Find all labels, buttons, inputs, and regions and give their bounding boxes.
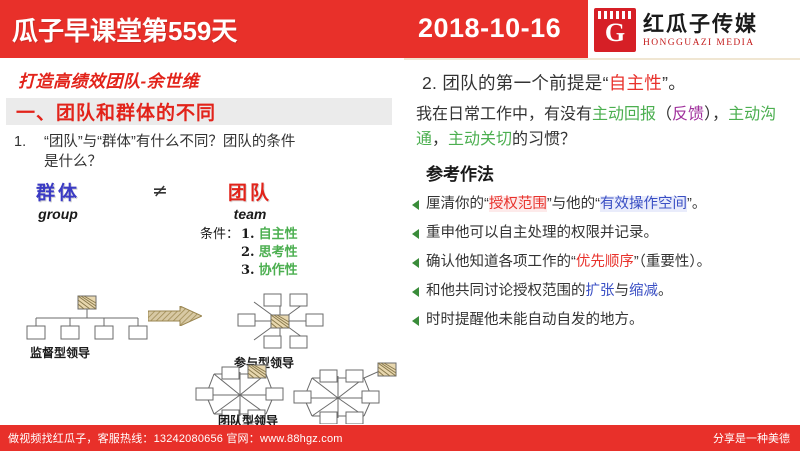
bullet-text: 确认他知道各项工作的“优先顺序”（重要性）。: [426, 252, 800, 272]
bullet-triangle-icon: [412, 287, 426, 297]
diagram-caption-supervisory: 监督型领导: [30, 344, 90, 361]
list-item: 重申他可以自主处理的权限并记录。: [412, 223, 800, 243]
right-heading-number: 2.: [422, 73, 437, 93]
bullet-part: 与: [615, 283, 630, 299]
bullet-part-authority-scope: 授权范围: [489, 196, 547, 212]
list-item: 时时提醒他未能自动自发的地方。: [412, 310, 800, 330]
bullet-part: ”与他的“: [547, 196, 600, 212]
bullet-triangle-icon: [412, 229, 426, 239]
footer-slogan: 分享是一种美德: [713, 430, 790, 446]
bullet-part: ”（重要性）。: [634, 254, 711, 270]
list-item: 1.自主性: [241, 226, 298, 244]
bullet-triangle-icon: [412, 258, 426, 268]
group-label: 群体 group: [36, 178, 80, 222]
list-item: 和他共同讨论授权范围的扩张与缩减。: [412, 281, 800, 301]
slide-footer: 做视频找红瓜子，客服热线：13242080656 官网：www.88hgz.co…: [0, 425, 800, 451]
slide-root: 瓜子早课堂第559天 2018-10-16 G 红瓜子传媒 HONGGUAZI …: [0, 0, 800, 451]
bullet-text: 时时提醒他未能自动自发的地方。: [426, 310, 800, 330]
course-subtitle: 打造高绩效团队-余世维: [18, 67, 404, 92]
team-conditions: 条件： 1.自主性 2.思考性 3.协作性: [200, 226, 298, 280]
para-seg-feedback: 反馈: [672, 106, 704, 123]
section-heading-text: 一、团队和群体的不同: [16, 98, 216, 125]
para-seg-9: 的习惯？: [512, 131, 576, 148]
section-heading-bar: 一、团队和群体的不同: [6, 98, 392, 125]
logo-mark-icon: G: [594, 8, 636, 52]
bullet-part: 重申他可以自主处理的权限并记录。: [426, 225, 658, 241]
transition-arrow-icon: [148, 306, 202, 326]
bullet-part: 厘清你的“: [426, 196, 489, 212]
logo-letter: G: [594, 18, 636, 48]
para-seg-1: 我在日常工作中，有没有: [416, 106, 592, 123]
team-label-en: team: [228, 206, 272, 222]
para-seg-5: ），: [704, 106, 728, 123]
condition-number: 1.: [241, 227, 255, 242]
bullet-part: 确认他知道各项工作的“: [426, 254, 576, 270]
logo-name-cn: 红瓜子传媒: [643, 12, 758, 36]
group-label-en: group: [36, 206, 80, 222]
leadership-diagrams: 监督型领导: [0, 286, 404, 426]
list-item: 2.思考性: [241, 244, 298, 262]
condition-number: 3.: [241, 263, 255, 278]
bullet-part-priority-order: 优先顺序: [576, 254, 634, 270]
header-date: 2018-10-16: [418, 13, 561, 44]
bullet-part: 和他共同讨论授权范围的: [426, 283, 586, 299]
para-seg-proactive-report: 主动回报: [592, 106, 656, 123]
question-block: 1. “团队”与“群体”有什么不同？团队的条件 是什么？: [14, 132, 392, 172]
team-label: 团队 team: [228, 178, 272, 222]
participative-leadership-diagram-icon: [232, 290, 328, 352]
para-seg-7: ，: [432, 131, 448, 148]
right-heading-before: 团队的第一个前提是“: [442, 73, 608, 93]
footer-contact: 做视频找红瓜子，客服热线：13242080656 官网：www.88hgz.co…: [8, 430, 343, 446]
bullet-part-expand: 扩张: [586, 283, 615, 299]
question-text: “团队”与“群体”有什么不同？团队的条件 是什么？: [44, 132, 392, 172]
condition-number: 2.: [241, 245, 255, 260]
right-paragraph: 我在日常工作中，有没有主动回报（反馈），主动沟通，主动关切的习惯？: [416, 102, 792, 152]
practice-bullet-list: 厘清你的“授权范围”与他的“有效操作空间”。 重申他可以自主处理的权限并记录。 …: [412, 194, 800, 330]
right-heading-emphasis: 自主性: [609, 73, 662, 93]
right-panel: 2. 团队的第一个前提是“自主性”。 我在日常工作中，有没有主动回报（反馈），主…: [404, 58, 800, 425]
bullet-text: 厘清你的“授权范围”与他的“有效操作空间”。: [426, 194, 800, 214]
bullet-part-effective-space: 有效操作空间: [600, 196, 687, 212]
condition-value: 思考性: [259, 245, 298, 260]
bullet-part: 时时提醒他未能自动自发的地方。: [426, 312, 644, 328]
header-title: 瓜子早课堂第559天: [12, 11, 237, 48]
conditions-label: 条件：: [200, 226, 239, 280]
condition-value: 协作性: [259, 263, 298, 278]
group-vs-team-row: 群体 group ≠ 团队 team 条件： 1.自主性 2.思考性: [0, 178, 404, 230]
condition-value: 自主性: [259, 227, 298, 242]
list-item: 厘清你的“授权范围”与他的“有效操作空间”。: [412, 194, 800, 214]
bullet-part: ”。: [687, 196, 706, 212]
right-heading-after: ”。: [662, 73, 686, 93]
not-equal-icon: ≠: [152, 180, 168, 202]
bullet-triangle-icon: [412, 316, 426, 326]
bullet-text: 重申他可以自主处理的权限并记录。: [426, 223, 800, 243]
team-leadership-diagram-b-icon: [290, 362, 402, 424]
right-heading: 2. 团队的第一个前提是“自主性”。: [422, 70, 800, 96]
conditions-list: 1.自主性 2.思考性 3.协作性: [241, 226, 298, 280]
question-number: 1.: [14, 132, 44, 172]
logo-name-en: HONGGUAZI MEDIA: [643, 38, 758, 48]
brand-logo: G 红瓜子传媒 HONGGUAZI MEDIA: [588, 0, 800, 58]
bullet-part-reduce: 缩减: [629, 283, 658, 299]
left-panel: 打造高绩效团队-余世维 一、团队和群体的不同 1. “团队”与“群体”有什么不同…: [0, 58, 404, 425]
bullet-triangle-icon: [412, 200, 426, 210]
group-label-cn: 群体: [36, 178, 80, 205]
question-line-2: 是什么？: [44, 152, 392, 172]
bullet-text: 和他共同讨论授权范围的扩张与缩减。: [426, 281, 800, 301]
para-seg-proactive-care: 主动关切: [448, 131, 512, 148]
slide-body: 打造高绩效团队-余世维 一、团队和群体的不同 1. “团队”与“群体”有什么不同…: [0, 58, 800, 425]
list-item: 3.协作性: [241, 262, 298, 280]
team-label-cn: 团队: [228, 178, 272, 205]
question-line-1: “团队”与“群体”有什么不同？团队的条件: [44, 132, 392, 152]
logo-text: 红瓜子传媒 HONGGUAZI MEDIA: [643, 12, 758, 48]
right-subheading: 参考作法: [426, 160, 800, 185]
list-item: 确认他知道各项工作的“优先顺序”（重要性）。: [412, 252, 800, 272]
bullet-part: 。: [658, 283, 673, 299]
slide-header: 瓜子早课堂第559天 2018-10-16 G 红瓜子传媒 HONGGUAZI …: [0, 0, 800, 58]
para-seg-3: （: [656, 106, 672, 123]
